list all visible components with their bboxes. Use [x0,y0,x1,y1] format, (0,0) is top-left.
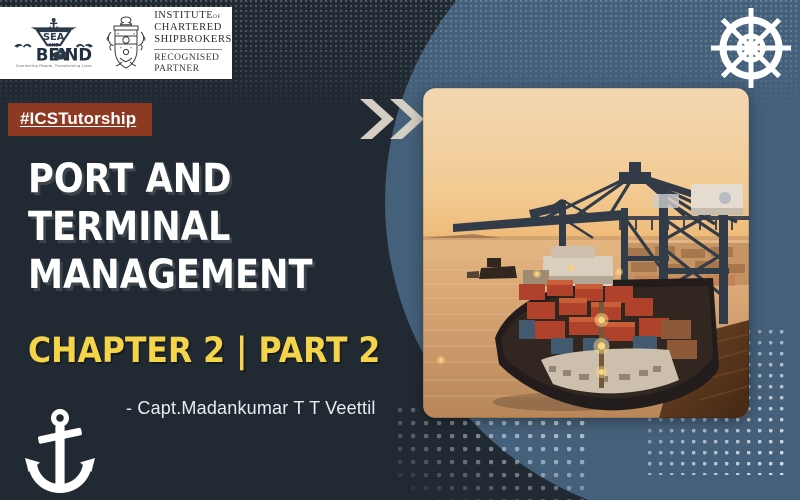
title-line-2: TERMINAL [28,203,345,251]
hashtag-badge-label: #ICSTutorship [20,109,136,128]
port-terminal-photo [423,88,749,418]
logo-divider [101,17,102,69]
ics-crest-icon [104,14,148,72]
double-chevron-right-icon [358,96,430,142]
ics-divider [154,49,222,50]
anchor-icon [20,405,100,500]
ics-line-1: INSTITUTEof [154,10,232,22]
ics-line-4: RECOGNISED [154,53,232,65]
institute-of-chartered-shipbrokers-logo: INSTITUTEof CHARTERED SHIPBROKERS RECOGN… [104,10,232,76]
port-terminal-illustration [423,88,749,418]
sea-and-beyond-logo: SEA AND BEY BEYOND ND Connecting People,… [6,11,101,75]
ics-line-5: PARTNER [154,64,232,76]
author-credit: - Capt.Madankumar T T Veettil [126,398,376,419]
svg-text:ND: ND [65,45,92,64]
title-line-1: PORT AND [28,155,345,203]
title-line-3: MANAGEMENT [28,251,345,299]
svg-text:SEA: SEA [43,32,65,43]
subtitle: CHAPTER 2 | PART 2 [28,330,380,372]
ics-line-2: CHARTERED [154,22,232,34]
presentation-slide: SEA AND BEY BEYOND ND Connecting People,… [0,0,800,500]
ships-wheel-icon [705,2,797,94]
logo-bar: SEA AND BEY BEYOND ND Connecting People,… [0,7,232,79]
hashtag-badge: #ICSTutorship [8,103,152,136]
page-title: PORT AND TERMINAL MANAGEMENT [28,155,388,299]
svg-text:Connecting People, Transformin: Connecting People, Transforming Lives [16,63,92,68]
ics-line-3: SHIPBROKERS [154,34,232,46]
